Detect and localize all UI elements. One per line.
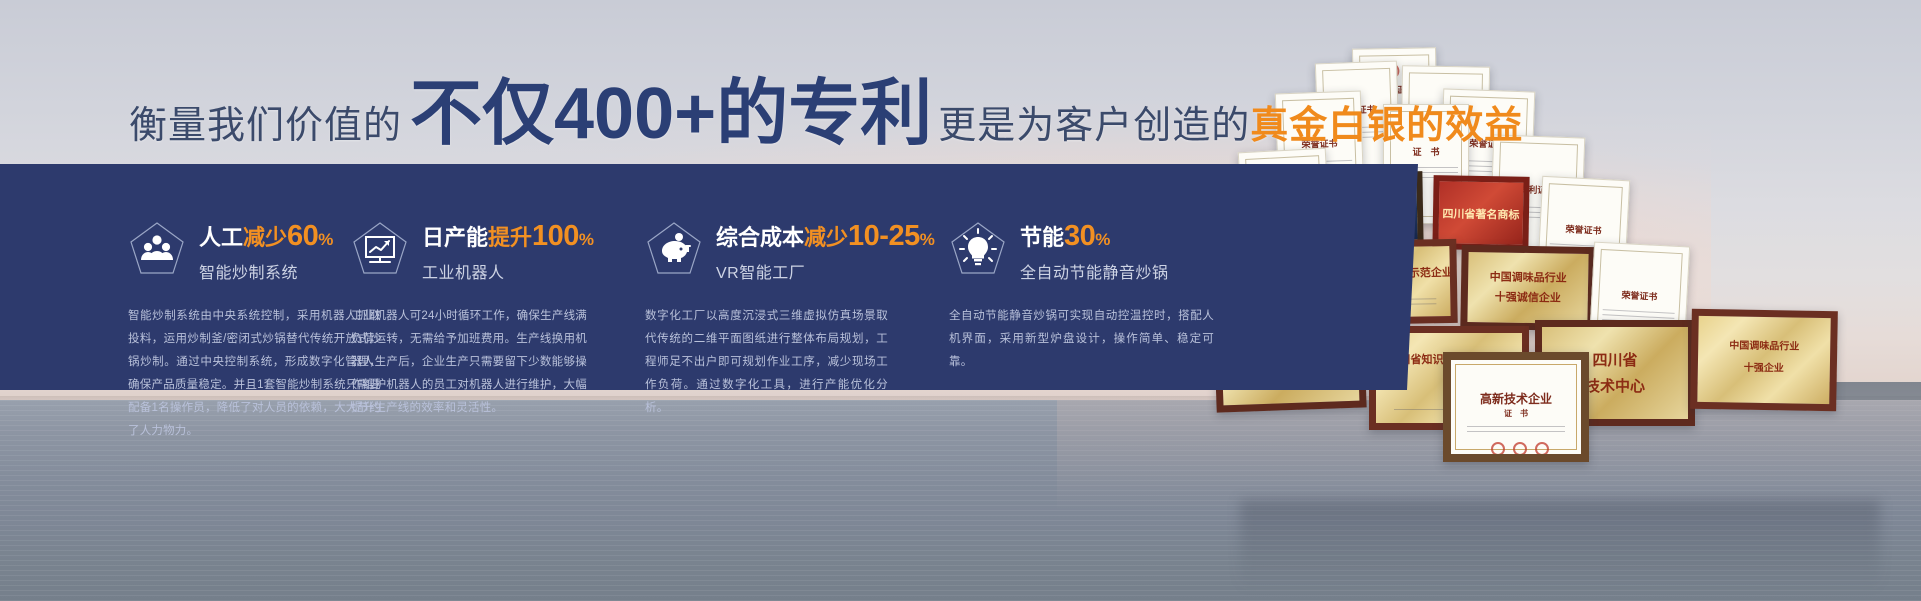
feature-title: 日产能提升100% — [422, 221, 594, 251]
feature-title: 人工减少60% — [199, 221, 333, 251]
feature-title-accent: 提升 — [488, 225, 532, 250]
feature-title-accent: 减少 — [243, 225, 287, 250]
feature-title-unit: % — [318, 230, 333, 249]
feature-item-energy: 节能30% 全自动节能静音炒锅 全自动节能静音炒锅可实现自动控温控时，搭配人机界… — [913, 164, 1243, 390]
feature-subtitle: 全自动节能静音炒锅 — [1020, 259, 1169, 283]
feature-subtitle: 智能炒制系统 — [199, 259, 333, 283]
piggy-bank-icon — [645, 220, 703, 278]
feature-text: 节能30% 全自动节能静音炒锅 — [1020, 218, 1169, 283]
feature-title-accent: 减少 — [804, 225, 848, 250]
feature-header: 人工减少60% 智能炒制系统 — [128, 218, 314, 283]
chart-monitor-icon — [351, 220, 409, 278]
feature-title-unit: % — [1095, 230, 1110, 249]
feature-text: 综合成本减少10-25% VR智能工厂 — [716, 218, 935, 283]
feature-title-number: 100 — [532, 220, 579, 252]
feature-description: 数字化工厂以高度沉浸式三维虚拟仿真场景取代传统的二维平面图纸进行整体布局规划，工… — [645, 305, 888, 420]
feature-header: 日产能提升100% 工业机器人 — [351, 218, 597, 283]
feature-title-prefix: 综合成本 — [716, 225, 804, 250]
feature-item-capacity: 日产能提升100% 工业机器人 工业机器人可24小时循环工作，确保生产线满负荷运… — [340, 164, 623, 390]
feature-title: 节能30% — [1020, 221, 1169, 251]
feature-subtitle: 工业机器人 — [422, 259, 594, 283]
headline-middle: 更是为客户创造的 — [938, 94, 1250, 149]
feature-title-prefix: 人工 — [199, 225, 243, 250]
headline-suffix: 真金白银的效益 — [1250, 94, 1523, 149]
feature-item-cost: 综合成本减少10-25% VR智能工厂 数字化工厂以高度沉浸式三维虚拟仿真场景取… — [623, 164, 913, 390]
feature-title-prefix: 日产能 — [422, 225, 488, 250]
certificate-reflection — [1240, 500, 1880, 590]
banner-stage: 专利证书 专利证书 专利证书 荣誉证书 荣誉证书 证 书 — [0, 0, 1921, 601]
feature-title-number: 60 — [287, 220, 318, 252]
certificate-item: 中国调味品行业 十强企业 — [1690, 309, 1838, 412]
feature-header: 节能30% 全自动节能静音炒锅 — [949, 218, 1217, 283]
certificate-item: 高新技术企业 证 书 — [1443, 352, 1589, 462]
feature-title-number: 10-25 — [848, 220, 920, 252]
feature-title-prefix: 节能 — [1020, 225, 1064, 250]
feature-list: 人工减少60% 智能炒制系统 智能炒制系统由中央系统控制，采用机器人抓取投料，运… — [0, 164, 1418, 390]
lightbulb-icon — [949, 220, 1007, 278]
feature-title-unit: % — [579, 230, 594, 249]
headline-emphasis: 不仅400+的专利 — [410, 78, 932, 150]
feature-description: 工业机器人可24小时循环工作，确保生产线满负荷运转，无需给予加班费用。生产线换用… — [351, 305, 587, 420]
feature-subtitle: VR智能工厂 — [716, 259, 935, 283]
feature-title: 综合成本减少10-25% — [716, 221, 935, 251]
feature-header: 综合成本减少10-25% VR智能工厂 — [645, 218, 887, 283]
team-people-icon — [128, 220, 186, 278]
feature-text: 人工减少60% 智能炒制系统 — [199, 218, 333, 283]
certificate-item: 中国调味品行业 十强诚信企业 — [1460, 245, 1595, 331]
feature-description: 全自动节能静音炒锅可实现自动控温控时，搭配人机界面，采用新型炉盘设计，操作简单、… — [949, 305, 1214, 374]
page-headline: 衡量我们价值的 不仅400+的专利 更是为客户创造的 真金白银的效益 — [129, 78, 1523, 150]
feature-item-labor: 人工减少60% 智能炒制系统 智能炒制系统由中央系统控制，采用机器人抓取投料，运… — [0, 164, 340, 390]
feature-title-number: 30 — [1064, 220, 1095, 252]
feature-text: 日产能提升100% 工业机器人 — [422, 218, 594, 283]
headline-prefix: 衡量我们价值的 — [129, 94, 402, 149]
